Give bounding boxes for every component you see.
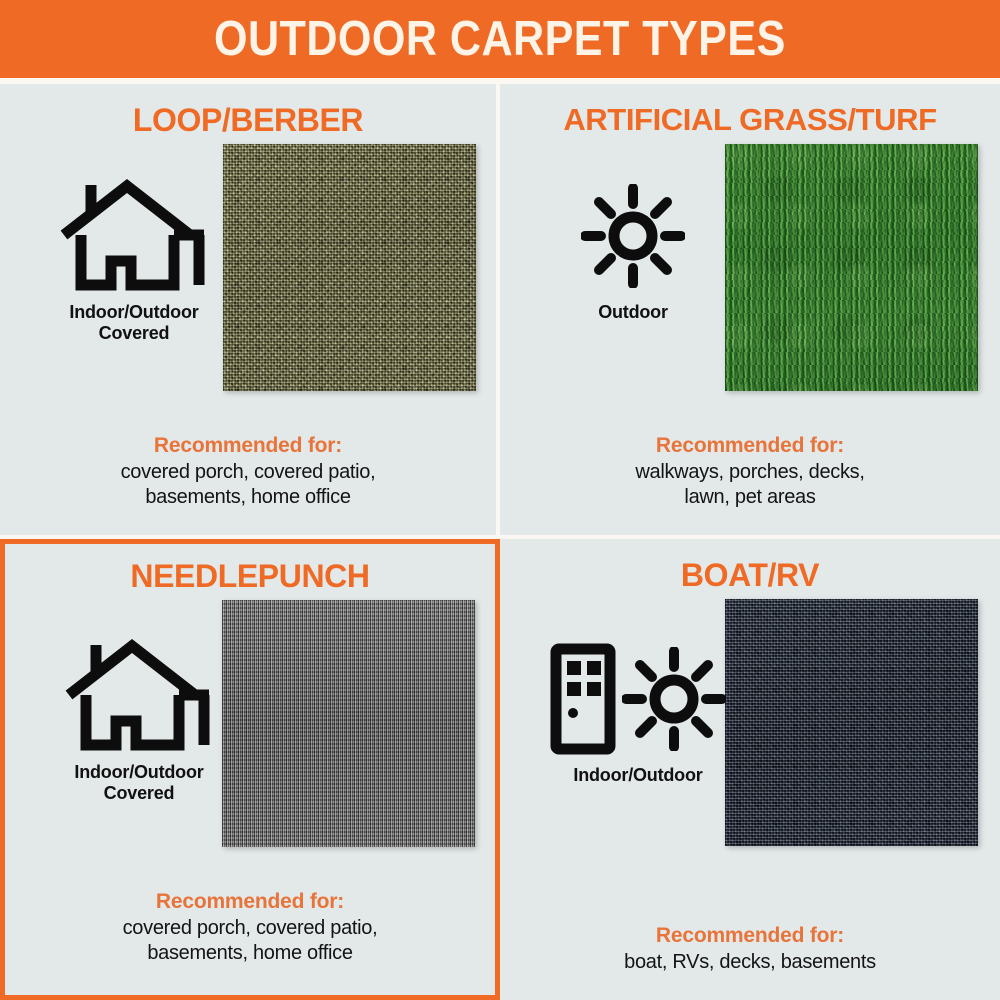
icon-caption-artificial-grass-turf: Outdoor — [518, 302, 748, 323]
icon-caption-line-1: Indoor/Outdoor — [74, 762, 203, 782]
recommended-body: boat, RVs, decks, basements — [520, 950, 980, 974]
panel-boat-rv[interactable]: BOAT/RV — [500, 539, 1000, 1000]
door-and-sun-icon-group — [518, 639, 758, 759]
icon-caption-line-1: Indoor/Outdoor — [69, 302, 198, 322]
recommended-heading: Recommended for: — [520, 434, 980, 458]
icon-caption-needlepunch: Indoor/Outdoor Covered — [29, 762, 249, 804]
recommended-block-needlepunch: Recommended for: covered porch, covered … — [5, 890, 495, 965]
icon-block-boat-rv: Indoor/Outdoor — [518, 639, 758, 786]
boat-rv-carpet-swatch — [725, 599, 978, 846]
recommended-body: covered porch, covered patio, basements,… — [25, 916, 475, 965]
icon-caption-line-2: Covered — [99, 323, 170, 343]
icon-caption-boat-rv: Indoor/Outdoor — [518, 765, 758, 786]
panel-artificial-grass-turf[interactable]: ARTIFICIAL GRASS/TURF — [500, 84, 1000, 539]
artificial-turf-swatch — [725, 144, 978, 391]
panel-loop-berber[interactable]: LOOP/BERBER Indoor/Outdo — [0, 84, 500, 539]
recommended-block-loop-berber: Recommended for: covered porch, covered … — [0, 434, 496, 509]
recommended-heading: Recommended for: — [520, 924, 980, 948]
icon-caption-line-2: Covered — [104, 783, 175, 803]
icon-block-needlepunch: Indoor/Outdoor Covered — [29, 636, 249, 804]
recommended-block-boat-rv: Recommended for: boat, RVs, decks, basem… — [500, 924, 1000, 974]
loop-berber-carpet-swatch — [223, 144, 476, 391]
panel-title-loop-berber: LOOP/BERBER — [0, 102, 496, 139]
house-icon — [24, 176, 244, 296]
recommended-line-1: walkways, porches, decks, — [520, 460, 980, 484]
outdoor-carpet-types-infographic: OUTDOOR CARPET TYPES LOOP/BERBER — [0, 0, 1000, 1000]
panel-title-boat-rv: BOAT/RV — [500, 557, 1000, 594]
recommended-line-1: covered porch, covered patio, — [25, 916, 475, 940]
needlepunch-carpet-swatch — [222, 600, 475, 847]
icon-caption-line-1: Indoor/Outdoor — [573, 765, 702, 785]
recommended-heading: Recommended for: — [25, 890, 475, 914]
sun-icon — [518, 176, 748, 296]
panel-title-needlepunch: NEEDLEPUNCH — [5, 558, 495, 595]
header-bar: OUTDOOR CARPET TYPES — [0, 0, 1000, 78]
icon-block-artificial-grass-turf: Outdoor — [518, 176, 748, 323]
icon-block-loop-berber: Indoor/Outdoor Covered — [24, 176, 244, 344]
carpet-type-grid: LOOP/BERBER Indoor/Outdo — [0, 84, 1000, 1000]
panel-needlepunch[interactable]: NEEDLEPUNCH Indoor/Outdo — [0, 539, 500, 1000]
icon-caption-line-1: Outdoor — [598, 302, 668, 322]
sun-icon — [622, 647, 726, 751]
door-icon — [550, 643, 616, 755]
recommended-line-1: covered porch, covered patio, — [20, 460, 476, 484]
recommended-line-2: basements, home office — [20, 485, 476, 509]
recommended-heading: Recommended for: — [20, 434, 476, 458]
recommended-body: walkways, porches, decks, lawn, pet area… — [520, 460, 980, 509]
page-title: OUTDOOR CARPET TYPES — [214, 11, 786, 67]
panel-title-artificial-grass-turf: ARTIFICIAL GRASS/TURF — [500, 102, 1000, 138]
recommended-line-1: boat, RVs, decks, basements — [520, 950, 980, 974]
recommended-block-artificial-grass-turf: Recommended for: walkways, porches, deck… — [500, 434, 1000, 509]
recommended-line-2: lawn, pet areas — [520, 485, 980, 509]
house-icon — [29, 636, 249, 756]
icon-caption-loop-berber: Indoor/Outdoor Covered — [24, 302, 244, 344]
recommended-line-2: basements, home office — [25, 941, 475, 965]
recommended-body: covered porch, covered patio, basements,… — [20, 460, 476, 509]
